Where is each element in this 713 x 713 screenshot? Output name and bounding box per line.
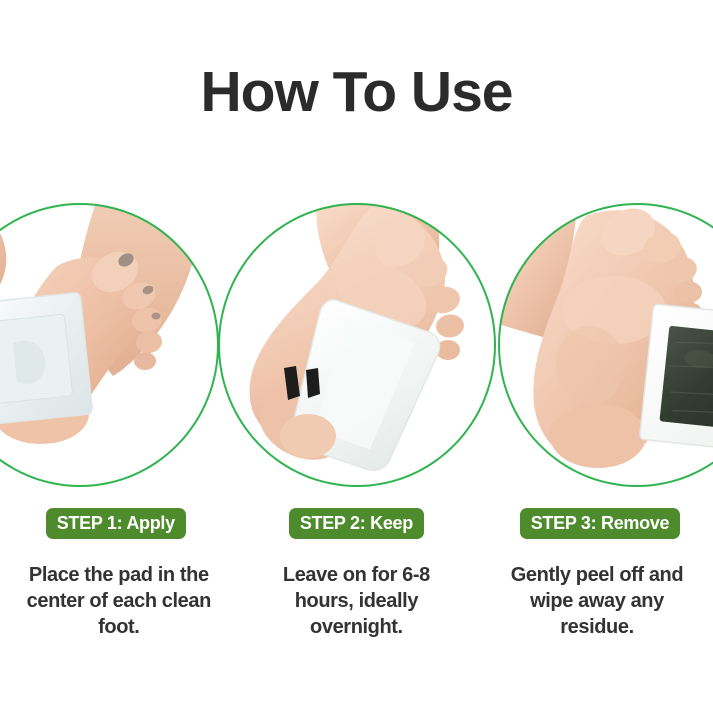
step-3-caption: Gently peel off and wipe away any residu… <box>492 562 702 640</box>
used-dark-patch-beside-foot-photo <box>494 200 713 490</box>
step-2-caption: Leave on for 6-8 hours, ideally overnigh… <box>251 562 461 640</box>
step-3-image-circle <box>494 200 713 490</box>
page-title: How To Use <box>0 60 713 124</box>
step-2-image-circle <box>214 200 500 490</box>
steps-image-band <box>0 200 713 500</box>
step-1-image-circle <box>0 200 223 490</box>
steps-text-row: STEP 1: Apply Place the pad in the cente… <box>0 508 713 658</box>
step-3-block: STEP 3: Remove Gently peel off and wipe … <box>475 508 713 658</box>
patch-applied-on-sole-photo <box>214 200 500 490</box>
step-1-block: STEP 1: Apply Place the pad in the cente… <box>0 508 238 658</box>
hand-holding-patch-to-foot-photo <box>0 200 223 490</box>
step-2-block: STEP 2: Keep Leave on for 6-8 hours, ide… <box>238 508 476 658</box>
step-1-caption: Place the pad in the center of each clea… <box>14 562 224 640</box>
how-to-use-infographic: How To Use <box>0 0 713 713</box>
step-3-badge: STEP 3: Remove <box>520 508 681 539</box>
step-2-badge: STEP 2: Keep <box>289 508 424 539</box>
step-1-badge: STEP 1: Apply <box>46 508 186 539</box>
